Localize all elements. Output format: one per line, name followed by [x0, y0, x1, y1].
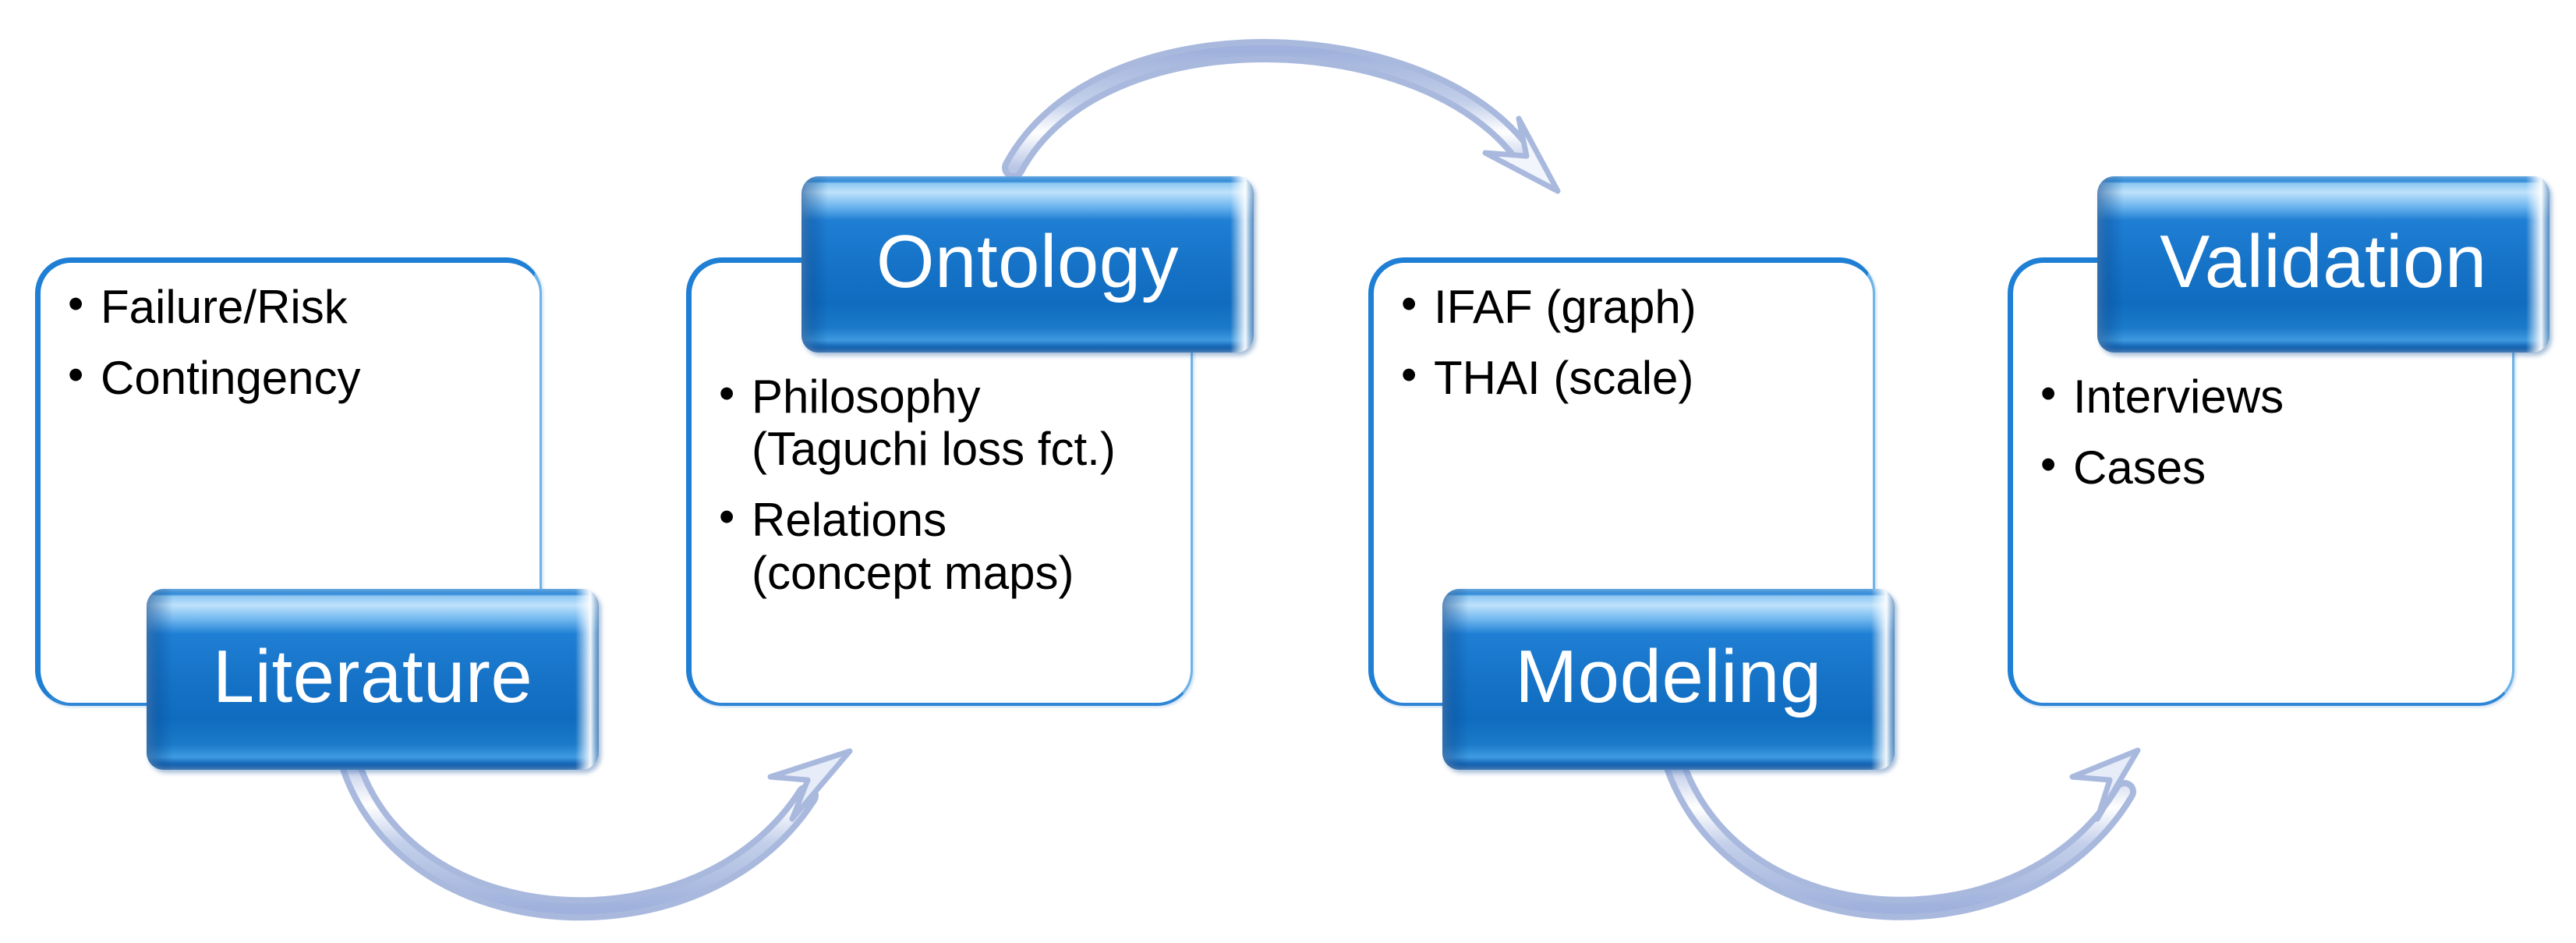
plate-label-ontology: Ontology	[801, 225, 1254, 304]
bullet-list-ontology: Philosophy (Taguchi loss fct.) Relations…	[717, 370, 1201, 618]
list-item: Contingency	[66, 352, 518, 404]
plate-validation[interactable]: Validation	[2097, 176, 2549, 353]
bullet-list-literature: Failure/Risk Contingency	[66, 281, 518, 423]
plate-modeling[interactable]: Modeling	[1442, 589, 1895, 770]
arrow-literature-to-ontology	[349, 751, 850, 909]
arrow-modeling-to-validation	[1675, 750, 2138, 909]
list-item: Failure/Risk	[66, 281, 518, 333]
plate-label-literature: Literature	[147, 640, 599, 719]
list-item: THAI (scale)	[1399, 352, 1867, 404]
list-item: Cases	[2039, 441, 2507, 494]
bullet-list-validation: Interviews Cases	[2039, 370, 2507, 512]
plate-literature[interactable]: Literature	[147, 589, 599, 770]
list-item: Interviews	[2039, 370, 2507, 423]
list-item: Relations (concept maps)	[717, 494, 1201, 598]
bullet-list-modeling: IFAF (graph) THAI (scale)	[1399, 281, 1867, 423]
plate-label-validation: Validation	[2097, 225, 2549, 304]
plate-ontology[interactable]: Ontology	[801, 176, 1254, 353]
list-item: IFAF (graph)	[1399, 281, 1867, 333]
list-item: Philosophy (Taguchi loss fct.)	[717, 370, 1201, 475]
diagram-canvas: Failure/Risk Contingency Literature Phil…	[0, 0, 2576, 943]
plate-label-modeling: Modeling	[1442, 640, 1895, 719]
arrow-ontology-to-modeling	[1014, 51, 1558, 191]
